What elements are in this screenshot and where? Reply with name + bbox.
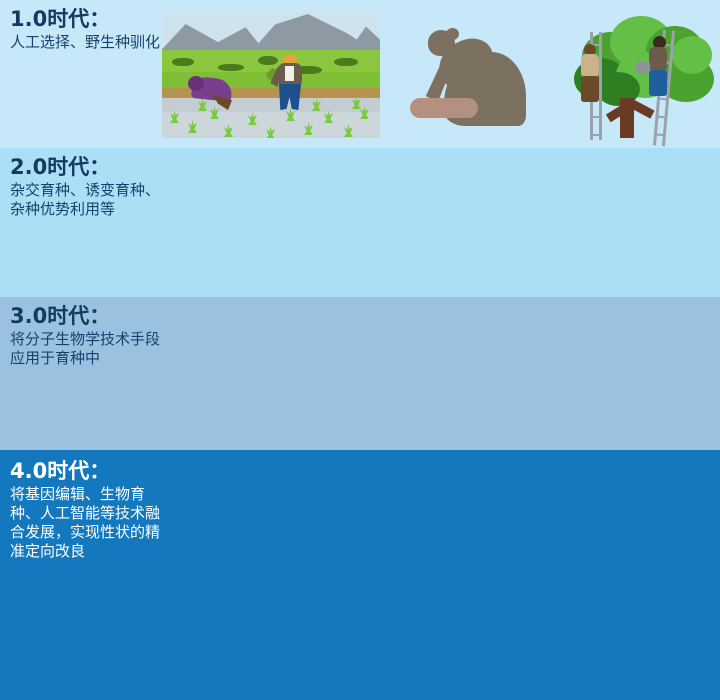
ladder-rung bbox=[590, 134, 602, 136]
farmer-shirt bbox=[285, 66, 294, 81]
person-legs bbox=[649, 70, 667, 96]
era-3-description: 将分子生物学技术手段应用于育种中 bbox=[10, 330, 160, 368]
bush-shape bbox=[218, 64, 244, 71]
era-row-3: 3.0时代： 将分子生物学技术手段应用于育种中 青绿色蛋白酶结构与穿过其中的橙色… bbox=[0, 297, 720, 450]
era-2-text-block: 2.0时代： 杂交育种、诱变育种、杂种优势利用等 bbox=[10, 156, 160, 219]
rice-paddy-planting-illustration: 两位农民在稻田中插秧，背景为山脉与绿色田野 bbox=[162, 12, 380, 138]
bush-shape bbox=[172, 58, 194, 66]
era-1-description: 人工选择、野生种驯化 bbox=[10, 33, 160, 52]
era-4-description: 将基因编辑、生物育种、人工智能等技术融合发展，实现性状的精准定向改良 bbox=[10, 485, 160, 562]
farmer-pants bbox=[279, 84, 301, 110]
era-1-text-block: 1.0时代： 人工选择、野生种驯化 bbox=[10, 8, 160, 52]
era-4-title: 4.0时代： bbox=[10, 460, 160, 484]
tree-trunk bbox=[620, 98, 634, 138]
farmer-head bbox=[188, 76, 204, 91]
era-3-text-block: 3.0时代： 将分子生物学技术手段应用于育种中 bbox=[10, 305, 160, 368]
farmer-standing-figure bbox=[274, 54, 308, 112]
era-2-description: 杂交育种、诱变育种、杂种优势利用等 bbox=[10, 181, 160, 219]
person-torso bbox=[581, 54, 599, 78]
woman-grinding-grain-silhouette: 跪坐妇女用石磨研磨谷物的剪影 bbox=[398, 14, 546, 140]
woman-hair-bun bbox=[446, 28, 459, 40]
orchard-harvest-illustration: 两人站在梯子上采摘果树上的果实 bbox=[572, 6, 720, 148]
ladder-rail bbox=[599, 32, 602, 140]
person-torso bbox=[649, 47, 667, 71]
tree-canopy bbox=[672, 36, 712, 74]
woman-figure bbox=[422, 24, 526, 128]
era-row-1: 1.0时代： 人工选择、野生种驯化 bbox=[0, 0, 720, 148]
breeding-eras-infographic: 1.0时代： 人工选择、野生种驯化 bbox=[0, 0, 720, 700]
era-1-title: 1.0时代： bbox=[10, 8, 160, 32]
farmer-bending-figure bbox=[188, 76, 234, 110]
era-4-text-block: 4.0时代： 将基因编辑、生物育种、人工智能等技术融合发展，实现性状的精准定向改… bbox=[10, 460, 160, 561]
person-legs bbox=[581, 76, 599, 102]
grinding-stone bbox=[410, 98, 478, 118]
harvest-basket bbox=[636, 62, 650, 74]
era-row-4: 4.0时代： 将基因编辑、生物育种、人工智能等技术融合发展，实现性状的精准定向改… bbox=[0, 450, 720, 700]
era-row-2: 2.0时代： 杂交育种、诱变育种、杂种优势利用等 深绿色联合收割机向卡车卸粮，卸… bbox=[0, 148, 720, 297]
era-3-title: 3.0时代： bbox=[10, 305, 160, 329]
bush-shape bbox=[334, 58, 358, 66]
ladder-rung bbox=[590, 116, 602, 118]
era-2-title: 2.0时代： bbox=[10, 156, 160, 180]
